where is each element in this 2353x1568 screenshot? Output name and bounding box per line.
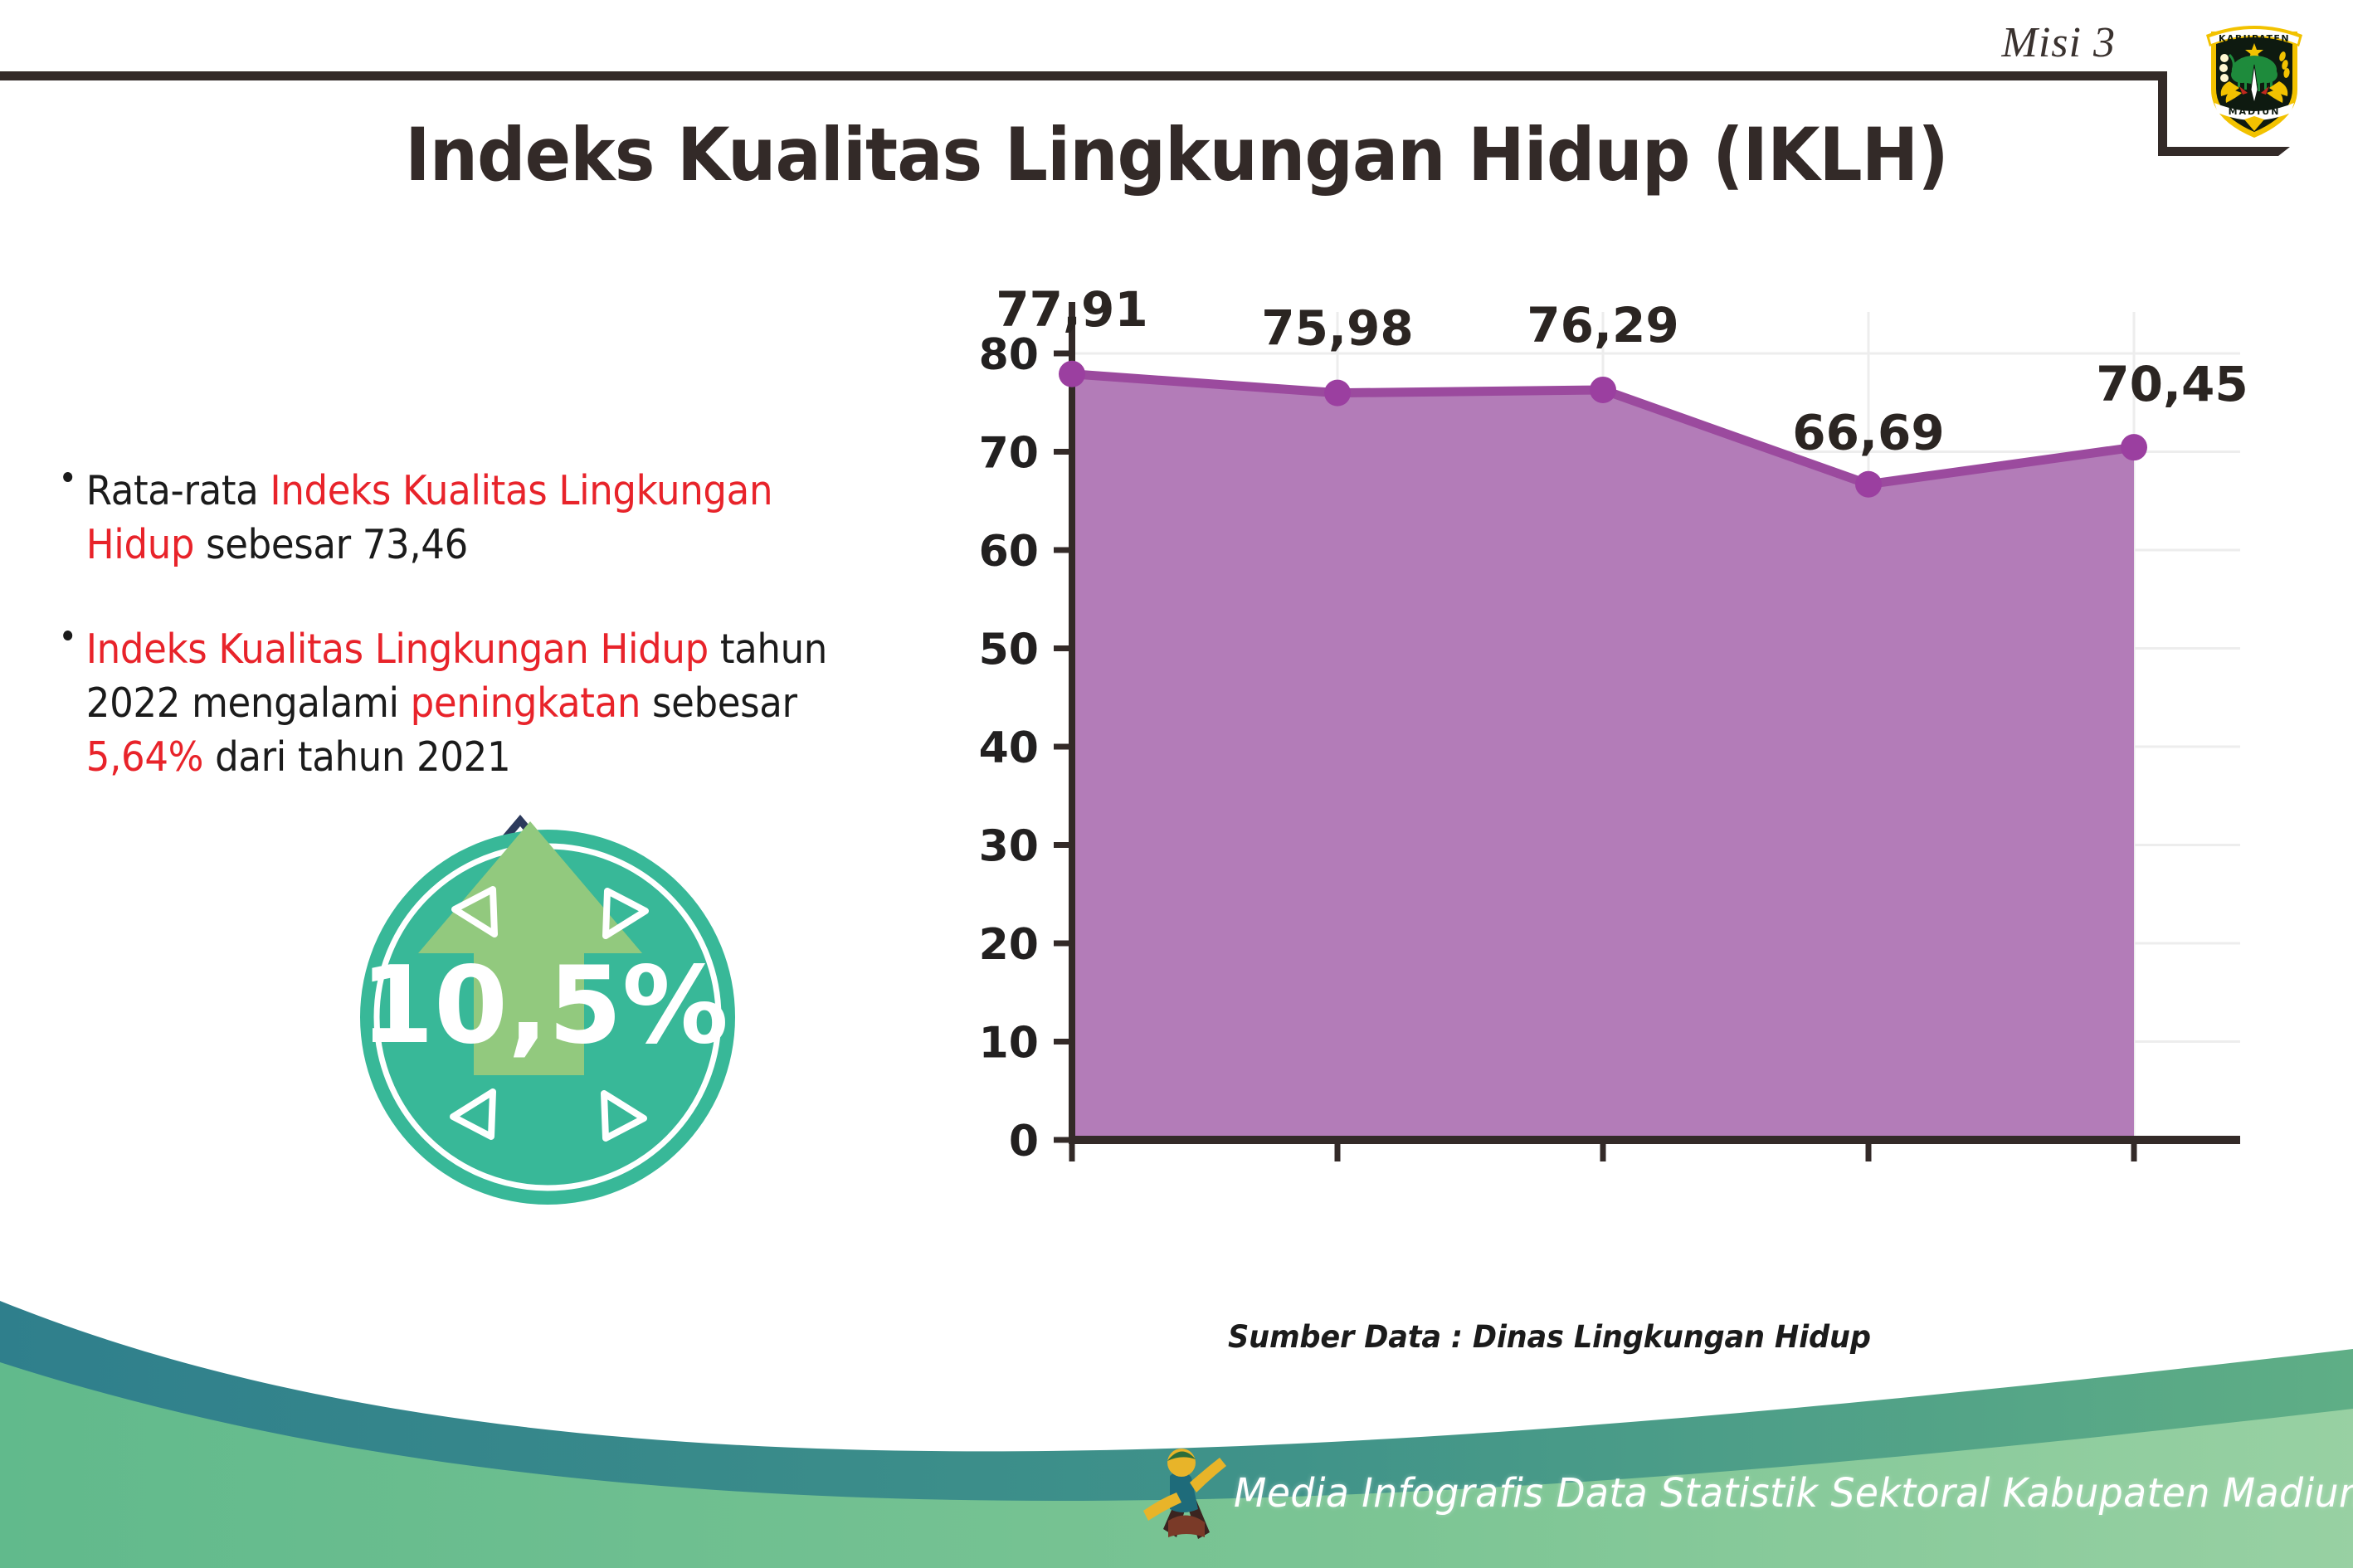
dancer-figure-icon [1140,1439,1233,1549]
header-divider-rule [0,71,2167,80]
bullet-average-text: Rata-rata Indeks Kualitas Lingkungan Hid… [65,465,874,572]
data-point-marker [2121,434,2147,460]
chart-source-note: Sumber Data : Dinas Lingkungan Hidup [1228,1319,1871,1355]
data-point-marker [1855,471,1882,498]
data-point-label: 70,45 [2096,356,2248,412]
data-point-label: 75,98 [1261,300,1413,357]
bullet-dot-icon [63,472,72,482]
text-segment: Indeks Kualitas Lingkungan Hidup [86,626,709,673]
page-title: Indeks Kualitas Lingkungan Hidup (IKLH) [82,112,2270,197]
data-point-label: 77,91 [996,282,1147,338]
y-axis-tick-label: 40 [979,723,1039,773]
area-fill [1072,374,2134,1140]
data-point-marker [1590,377,1616,403]
bullet-average: Rata-rata Indeks Kualitas Lingkungan Hid… [65,465,874,572]
y-axis-tick-label: 60 [979,527,1039,577]
badge-value: 10,5% [360,944,728,1068]
data-point-marker [1324,380,1351,407]
misi-label: Misi 3 [2002,18,2116,67]
data-point-label: 76,29 [1527,297,1678,353]
iklh-area-chart: 010203040506070802018201920202021202277,… [979,282,2323,1161]
data-point-label: 66,69 [1792,405,1944,461]
text-segment: sebesar [641,679,797,727]
footer-caption: Media Infografis Data Statistik Sektoral… [1234,1470,2353,1517]
increase-badge: 10,5% [330,753,762,1211]
y-axis-tick-label: 10 [979,1019,1039,1069]
bullet-dot-icon [63,631,72,640]
y-axis-tick-label: 0 [1009,1117,1039,1161]
y-axis-tick-label: 70 [979,429,1039,479]
svg-text:KABUPATEN: KABUPATEN [2219,33,2290,44]
y-axis-tick-label: 20 [979,920,1039,970]
text-segment: peningkatan [411,679,641,727]
y-axis-tick-label: 30 [979,822,1039,872]
y-axis-tick-label: 80 [979,330,1039,380]
infographic-slide: Misi 3 KABUPATEN [0,0,2353,1568]
text-segment: sebesar 73,46 [194,521,468,568]
text-segment: 5,64% [86,733,203,781]
text-segment: Rata-rata [86,467,270,514]
y-axis-tick-label: 50 [979,626,1039,675]
data-point-marker [1059,361,1085,387]
